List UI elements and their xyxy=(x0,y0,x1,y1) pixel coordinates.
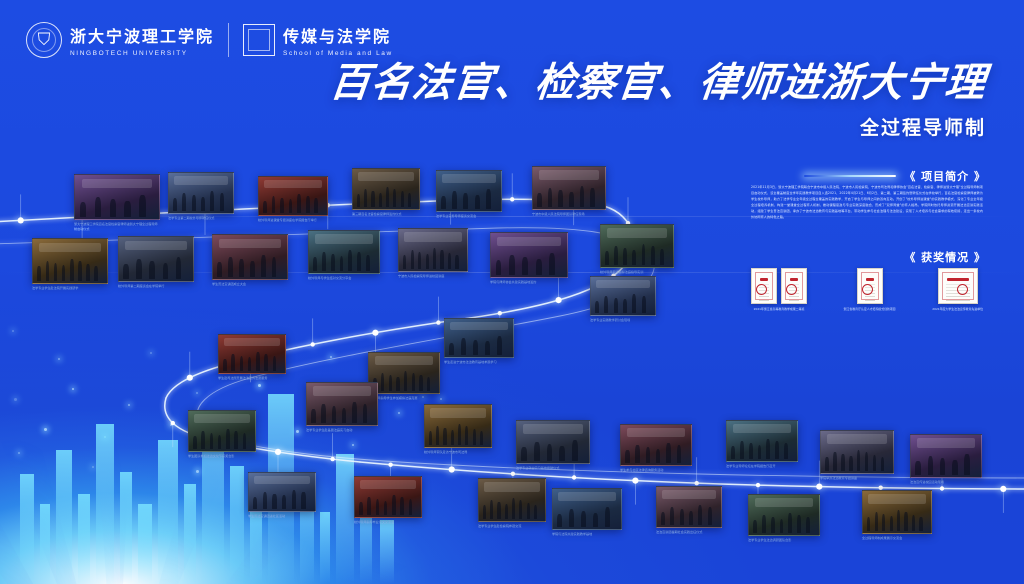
poster-title-block: 百名法官、检察官、律师进浙大宁理 全过程导师制 xyxy=(330,62,986,140)
poster-canvas: ⛉ 浙大宁波理工学院 NINGBOTECH UNIVERSITY 传媒与法学院 … xyxy=(0,0,1024,584)
photo-caption: 校外导师指导毕业论文交流会 xyxy=(354,520,420,525)
photo-card[interactable]: 法学专业学生赴基层法庭实习启动 xyxy=(306,382,376,433)
photo-thumbnail[interactable] xyxy=(532,166,606,210)
photo-thumbnail[interactable] xyxy=(368,352,440,394)
photo-card[interactable]: 法学专业就业实习基地授牌仪式 xyxy=(516,420,588,471)
photo-thumbnail[interactable] xyxy=(444,318,514,358)
photo-caption: 法治宣讲团暑期社会实践出征仪式 xyxy=(656,530,720,535)
timeline-node[interactable] xyxy=(498,311,502,315)
photo-caption: 法学专业就业实习基地授牌仪式 xyxy=(516,466,588,471)
certificate-image xyxy=(751,268,807,304)
photo-caption: 学生团队参加法治文化节获奖合影 xyxy=(188,454,254,459)
photo-caption: 法学专业导师论坛在学院报告厅召开 xyxy=(726,464,796,469)
crest-glyph: ⛉ xyxy=(38,31,51,48)
photo-caption: 校外导师进课堂专题讲座在学院报告厅举行 xyxy=(258,218,326,223)
poster-subtitle: 全过程导师制 xyxy=(330,113,986,140)
photo-card[interactable]: 法学专业学生赴检察院参观交流 xyxy=(478,478,544,529)
timeline-node[interactable] xyxy=(572,475,576,479)
photo-thumbnail[interactable] xyxy=(862,490,932,534)
photo-card[interactable]: 校外导师与学生结对交流分享会 xyxy=(308,230,378,281)
photo-thumbnail[interactable] xyxy=(248,472,316,512)
photo-card[interactable]: 学生普法宣讲团进社区活动 xyxy=(248,472,314,519)
photo-card[interactable]: 校外导师指导毕业论文交流会 xyxy=(354,476,420,525)
photo-thumbnail[interactable] xyxy=(436,170,502,212)
photo-thumbnail[interactable] xyxy=(118,236,194,282)
photo-caption: 校外导师与学生结对交流分享会 xyxy=(308,276,378,281)
photo-card[interactable]: 学院与律师协会共建实践基地签约 xyxy=(490,232,566,285)
photo-thumbnail[interactable] xyxy=(620,424,692,466)
photo-thumbnail[interactable] xyxy=(600,224,674,268)
photo-caption: 法学专业学生赴基层法庭实习启动 xyxy=(306,428,376,433)
poster-title: 百名法官、检察官、律师进浙大宁理 xyxy=(328,62,988,104)
timeline-node[interactable] xyxy=(940,486,944,490)
photo-card[interactable]: 法学专业导师论坛在学院报告厅召开 xyxy=(726,420,796,469)
photo-card[interactable]: 法学专业学生法治调研团队合影 xyxy=(748,494,818,543)
photo-thumbnail[interactable] xyxy=(424,404,492,448)
school-logo: 传媒与法学院 School of Media and Law xyxy=(243,23,393,57)
timeline-node[interactable] xyxy=(187,375,193,381)
photo-thumbnail[interactable] xyxy=(354,476,422,518)
photo-thumbnail[interactable] xyxy=(552,488,622,530)
school-name-en: School of Media and Law xyxy=(283,50,393,57)
award-certificate: 2021年浙江省高等教育教学成果二等奖 xyxy=(751,268,807,311)
photo-card[interactable]: 法学专业学生赴法院开展实践研学 xyxy=(32,238,106,291)
photo-card[interactable]: 全过程导师制成果展示交流会 xyxy=(862,490,930,541)
photo-thumbnail[interactable] xyxy=(258,176,328,216)
school-name-cn: 传媒与法学院 xyxy=(283,23,393,47)
timeline-node[interactable] xyxy=(330,457,334,461)
photo-caption: 宁波市中级人民法院导师团队聘任现场 xyxy=(532,212,604,217)
photo-card[interactable]: 学院举办法治教育专题讲座 xyxy=(820,430,892,481)
awards-section-header: 《 获奖情况 》 xyxy=(904,249,986,265)
photo-thumbnail[interactable] xyxy=(218,334,286,374)
timeline-node[interactable] xyxy=(816,484,822,490)
photo-card[interactable]: 法治宣讲团暑期社会实践出征仪式 xyxy=(656,486,720,535)
photo-caption: 法学专业学生赴法院开展实践研学 xyxy=(32,286,106,291)
timeline-node[interactable] xyxy=(372,330,378,336)
photo-caption: 学院与律师协会共建实践基地签约 xyxy=(490,280,566,285)
photo-thumbnail[interactable] xyxy=(748,494,820,536)
photo-caption: 法学专业学生法治调研团队合影 xyxy=(748,538,818,543)
photo-card[interactable]: 校外导师第二期座谈会在学院举行 xyxy=(118,236,192,289)
photo-card[interactable]: 校外导师进课堂专题讲座在学院报告厅举行 xyxy=(258,176,326,223)
certificate-caption: 2021年度大学生法治宣传教育先进单位 xyxy=(932,307,983,311)
certificate-thumbnail xyxy=(781,268,807,304)
award-certificate: 2021年度大学生法治宣传教育先进单位 xyxy=(932,268,983,311)
photo-caption: 校外导师指导学生参加模拟法庭竞赛 xyxy=(368,396,438,401)
photo-caption: 学生普法宣讲团进社区活动 xyxy=(248,514,314,519)
certificate-thumbnail xyxy=(751,268,777,304)
certificate-caption: 2021年浙江省高等教育教学成果二等奖 xyxy=(754,307,805,311)
photo-caption: 学生赴司法所开展法治宣传志愿服务 xyxy=(218,376,284,381)
photo-caption: 浙大宁波理工学院百名法官检察官律师进浙大宁理全过程导师制启动仪式 xyxy=(74,222,158,232)
photo-caption: 法学专业第二期校外导师聘任仪式 xyxy=(168,216,232,221)
timeline-node[interactable] xyxy=(756,483,760,487)
photo-card[interactable]: 学生参与社区法律咨询服务活动 xyxy=(620,424,690,473)
photo-thumbnail[interactable] xyxy=(478,478,546,522)
photo-card[interactable]: 校外导师走进模拟法庭指导实训 xyxy=(600,224,672,275)
photo-caption: 校外导师第二期座谈会在学院举行 xyxy=(118,284,192,289)
certificate-thumbnail xyxy=(938,268,978,304)
photo-thumbnail[interactable] xyxy=(32,238,108,284)
timeline-node[interactable] xyxy=(388,463,392,467)
photo-thumbnail[interactable] xyxy=(74,174,160,220)
photo-card[interactable]: 校外导师指导学生参加模拟法庭竞赛 xyxy=(368,352,438,401)
photo-caption: 学院举办法治教育专题讲座 xyxy=(820,476,892,481)
intro-section-header: 《 项目简介 》 xyxy=(804,168,986,184)
intro-body-text: 2021年11月3日，浙大宁波理工学院联合宁波市中级人民法院、宁波市人民检察院、… xyxy=(751,184,983,220)
photo-thumbnail[interactable] xyxy=(910,434,982,478)
awards-certificates: 2021年浙江省高等教育教学成果二等奖浙江省教育厅认定人才培养模式创新项目202… xyxy=(751,268,983,311)
photo-thumbnail[interactable] xyxy=(656,486,722,528)
photo-card[interactable]: 学生团队参加法治文化节获奖合影 xyxy=(188,410,254,459)
photo-thumbnail[interactable] xyxy=(212,234,288,280)
photo-caption: 法治宣传进校园活动现场 xyxy=(910,480,980,485)
photo-card[interactable]: 法学专业第二期校外导师聘任仪式 xyxy=(168,172,232,221)
certificate-thumbnail xyxy=(857,268,883,304)
timeline-node[interactable] xyxy=(511,472,515,476)
timeline-node[interactable] xyxy=(449,466,455,472)
photo-caption: 学生普法宣讲团成立大会 xyxy=(212,282,286,287)
photo-thumbnail[interactable] xyxy=(188,410,256,452)
photo-card[interactable]: 宁波市中级人民法院导师团队聘任现场 xyxy=(532,166,604,217)
photo-caption: 全过程导师制成果展示交流会 xyxy=(862,536,930,541)
photo-thumbnail[interactable] xyxy=(306,382,378,426)
photo-thumbnail[interactable] xyxy=(820,430,894,474)
photo-card[interactable]: 学生走进宁波市法治教育基地参观学习 xyxy=(444,318,512,365)
timeline-node[interactable] xyxy=(311,342,315,346)
photo-thumbnail[interactable] xyxy=(516,420,590,464)
photo-card[interactable]: 第三期百名法官检察官律师签约仪式 xyxy=(352,168,418,217)
photo-thumbnail[interactable] xyxy=(168,172,234,214)
university-name-en: NINGBOTECH UNIVERSITY xyxy=(70,50,214,57)
brand-header: ⛉ 浙大宁波理工学院 NINGBOTECH UNIVERSITY 传媒与法学院 … xyxy=(26,22,393,58)
timeline-node[interactable] xyxy=(632,478,638,484)
timeline-node[interactable] xyxy=(695,481,699,485)
photo-thumbnail[interactable] xyxy=(398,228,468,272)
award-certificate: 浙江省教育厅认定人才培养模式创新项目 xyxy=(844,268,896,311)
photo-card[interactable]: 宁波市人民检察院导师进校园讲座 xyxy=(398,228,466,279)
photo-thumbnail[interactable] xyxy=(352,168,420,210)
certificate-image xyxy=(938,268,978,304)
photo-thumbnail[interactable] xyxy=(308,230,380,274)
photo-card[interactable]: 校外导师带队走访宁波市司法局 xyxy=(424,404,490,455)
photo-thumbnail[interactable] xyxy=(726,420,798,462)
university-crest-icon: ⛉ xyxy=(26,22,62,58)
photo-caption: 学院与法院共建实践教学基地 xyxy=(552,532,620,537)
glow-line-decoration xyxy=(804,175,896,177)
photo-card[interactable]: 学生普法宣讲团成立大会 xyxy=(212,234,286,287)
photo-caption: 法学专业实务导师座谈交流会 xyxy=(436,214,500,219)
timeline-node[interactable] xyxy=(171,421,175,425)
certificate-caption: 浙江省教育厅认定人才培养模式创新项目 xyxy=(844,307,896,311)
timeline-node[interactable] xyxy=(1000,486,1006,492)
photo-caption: 宁波市人民检察院导师进校园讲座 xyxy=(398,274,466,279)
photo-card[interactable]: 法治宣传进校园活动现场 xyxy=(910,434,980,485)
university-logo: ⛉ 浙大宁波理工学院 NINGBOTECH UNIVERSITY xyxy=(26,22,214,58)
intro-section-label: 《 项目简介 》 xyxy=(904,168,986,184)
photo-caption: 校外导师带队走访宁波市司法局 xyxy=(424,450,490,455)
photo-caption: 法学专业学生赴检察院参观交流 xyxy=(478,524,544,529)
timeline-node[interactable] xyxy=(510,197,514,201)
photo-thumbnail[interactable] xyxy=(490,232,568,278)
certificate-image xyxy=(857,268,883,304)
photo-card[interactable]: 学生赴司法所开展法治宣传志愿服务 xyxy=(218,334,284,381)
photo-caption: 校外导师走进模拟法庭指导实训 xyxy=(600,270,672,275)
university-name-cn: 浙大宁波理工学院 xyxy=(70,23,214,47)
photo-card[interactable]: 学院与法院共建实践教学基地 xyxy=(552,488,620,537)
photo-caption: 法学专业实践教学研讨会现场 xyxy=(590,318,654,323)
timeline-node[interactable] xyxy=(18,217,24,223)
photo-card[interactable]: 法学专业实践教学研讨会现场 xyxy=(590,276,654,323)
photo-caption: 学生参与社区法律咨询服务活动 xyxy=(620,468,690,473)
timeline-node[interactable] xyxy=(556,297,562,303)
awards-section-label: 《 获奖情况 》 xyxy=(904,249,986,265)
photo-card[interactable]: 浙大宁波理工学院百名法官检察官律师进浙大宁理全过程导师制启动仪式 xyxy=(74,174,158,232)
photo-caption: 学生走进宁波市法治教育基地参观学习 xyxy=(444,360,512,365)
book-icon xyxy=(243,24,275,56)
photo-caption: 第三期百名法官检察官律师签约仪式 xyxy=(352,212,418,217)
photo-thumbnail[interactable] xyxy=(590,276,656,316)
timeline-node[interactable] xyxy=(275,449,281,455)
photo-card[interactable]: 法学专业实务导师座谈交流会 xyxy=(436,170,500,219)
timeline-node[interactable] xyxy=(436,320,440,324)
logo-divider xyxy=(228,23,229,57)
